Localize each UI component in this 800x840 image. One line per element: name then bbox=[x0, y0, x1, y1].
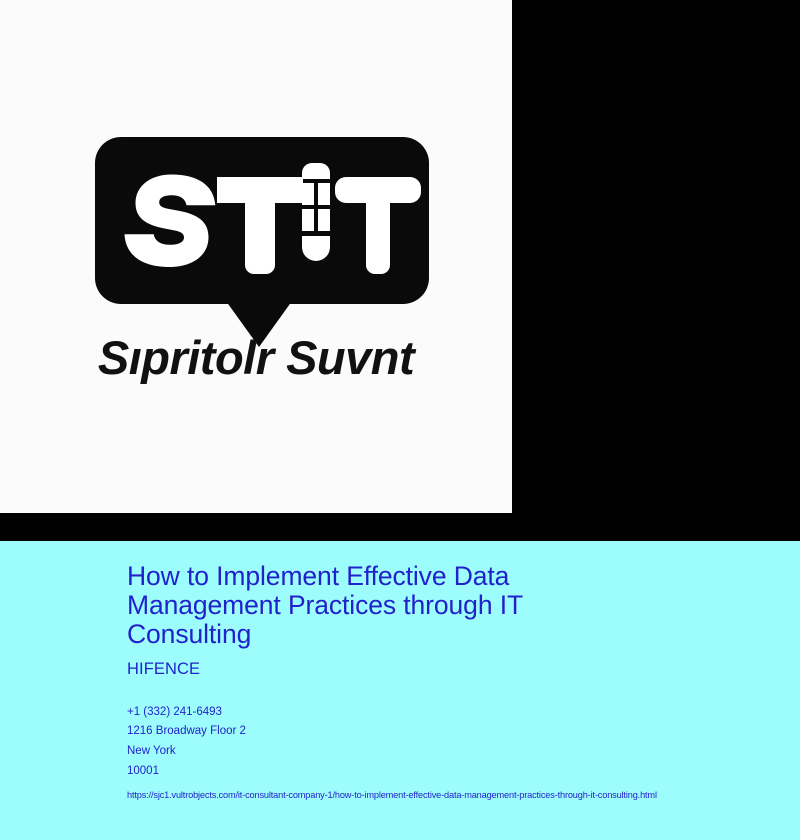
info-panel: How to Implement Effective Data Manageme… bbox=[0, 541, 800, 840]
source-url[interactable]: https://sjc1.vultrobjects.com/it-consult… bbox=[127, 790, 796, 800]
computer-mouse-icon bbox=[302, 163, 330, 261]
brand-name: HIFENCE bbox=[127, 660, 796, 679]
logo-letter-s bbox=[125, 175, 216, 268]
page-title: How to Implement Effective Data Manageme… bbox=[127, 562, 632, 649]
logo-wordmark bbox=[95, 137, 429, 304]
info-content: How to Implement Effective Data Manageme… bbox=[127, 562, 796, 800]
logo-tagline: Sıpritolr Suvnt bbox=[0, 330, 512, 385]
contact-block: +1 (332) 241-6493 1216 Broadway Floor 2 … bbox=[127, 703, 796, 782]
contact-zip: 10001 bbox=[127, 762, 796, 782]
logo-letter-t-left bbox=[217, 177, 303, 274]
logo-card: Sıpritolr Suvnt bbox=[0, 0, 512, 513]
contact-phone: +1 (332) 241-6493 bbox=[127, 703, 796, 723]
hero-banner: Sıpritolr Suvnt bbox=[0, 0, 800, 541]
contact-city: New York bbox=[127, 742, 796, 762]
contact-street: 1216 Broadway Floor 2 bbox=[127, 722, 796, 742]
logo-letter-t-right bbox=[335, 177, 421, 274]
